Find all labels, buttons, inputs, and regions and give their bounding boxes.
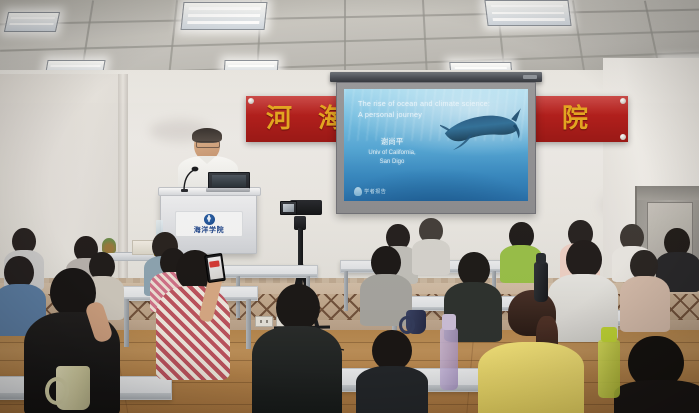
slide-affiliation-line-2: San Digo bbox=[344, 158, 440, 166]
cream-mug bbox=[56, 366, 90, 410]
slide-affiliation-line-1: Univ of California, bbox=[344, 149, 440, 157]
slide-footer-logo: 学者报告 bbox=[354, 187, 386, 196]
slide-speaker-name: 谢尚平 bbox=[344, 137, 440, 147]
green-water-bottle bbox=[598, 340, 620, 398]
suspended-ceiling bbox=[0, 0, 699, 78]
audience-member bbox=[478, 290, 584, 413]
gooseneck-microphone bbox=[180, 164, 210, 192]
purple-water-bottle bbox=[440, 328, 458, 390]
lectern-sign-text: 海洋学院 bbox=[194, 226, 224, 235]
projection-screen: The rise of ocean and climate science: A… bbox=[336, 82, 536, 214]
smartphone-recording[interactable] bbox=[204, 253, 226, 283]
audience-member bbox=[252, 284, 342, 413]
slide-logo-mark bbox=[354, 187, 362, 196]
desk-leg bbox=[246, 299, 251, 349]
presenter-laptop[interactable] bbox=[206, 172, 250, 192]
mug-handle bbox=[45, 377, 69, 405]
audience-member bbox=[356, 330, 428, 413]
audience-member bbox=[620, 250, 670, 330]
desk-leg bbox=[124, 299, 129, 347]
ceiling-light-panel bbox=[4, 12, 60, 32]
mug-handle bbox=[399, 316, 415, 334]
audience-member bbox=[614, 336, 699, 413]
dark-blue-mug bbox=[406, 310, 426, 334]
lecture-hall-photo: 河 海 院 bbox=[0, 0, 699, 413]
presentation-slide: The rise of ocean and climate science: A… bbox=[344, 89, 528, 201]
slide-title-line-1: The rise of ocean and climate science: bbox=[358, 99, 490, 109]
banner-char-1: 河 bbox=[266, 102, 292, 136]
ceiling-light-panel bbox=[181, 2, 268, 30]
black-thermos bbox=[534, 262, 548, 302]
humpback-whale-illustration bbox=[440, 105, 521, 157]
banner-char-4: 院 bbox=[562, 102, 588, 136]
desk-leg bbox=[344, 271, 348, 311]
slide-title-line-2: A personal journey bbox=[358, 110, 422, 120]
projection-screen-housing bbox=[330, 72, 542, 82]
ceiling-light-panel bbox=[484, 0, 571, 26]
speaker-glasses bbox=[196, 141, 220, 148]
audience-member bbox=[360, 246, 412, 322]
college-emblem-icon bbox=[204, 214, 215, 225]
slide-logo-text: 学者报告 bbox=[364, 188, 386, 195]
